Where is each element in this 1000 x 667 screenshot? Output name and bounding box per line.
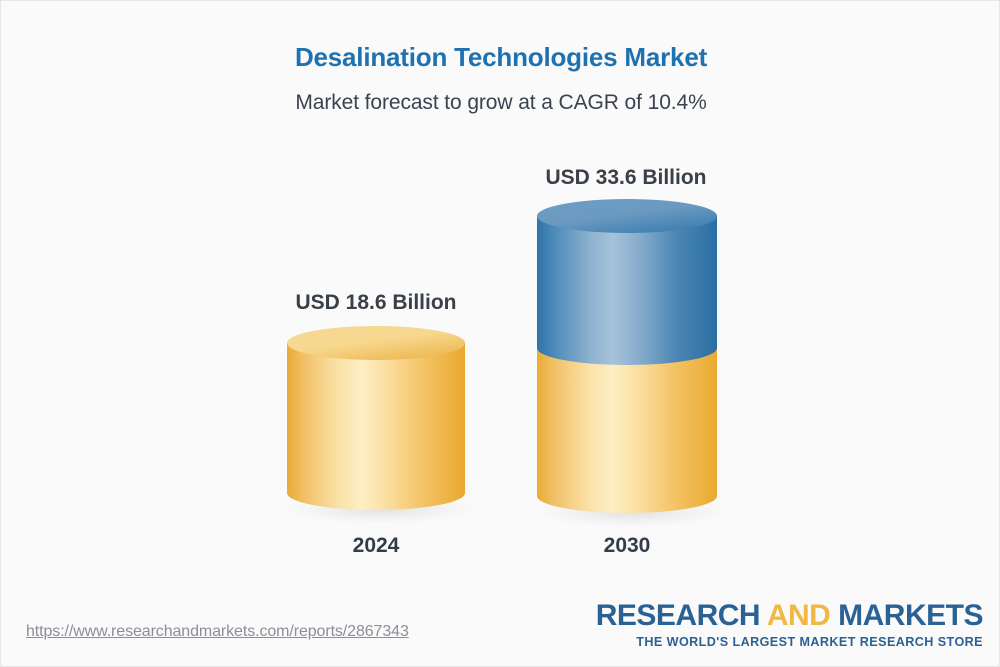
cylinder-2030 (527, 198, 727, 528)
brand-tagline: THE WORLD'S LARGEST MARKET RESEARCH STOR… (596, 636, 983, 649)
plot-area: USD 18.6 Billion (1, 1, 1000, 601)
value-label-2030: USD 33.6 Billion (525, 166, 727, 190)
brand-logo: RESEARCH AND MARKETS THE WORLD'S LARGEST… (596, 601, 983, 649)
chart-canvas: Desalination Technologies Market Market … (0, 0, 1000, 667)
source-url[interactable]: https://www.researchandmarkets.com/repor… (26, 623, 409, 641)
category-label-2030: 2030 (552, 534, 702, 558)
brand-word-markets: MARKETS (838, 599, 983, 632)
brand-wordmark: RESEARCH AND MARKETS (596, 601, 983, 631)
brand-word-research: RESEARCH (596, 599, 760, 632)
bar-group-2030: USD 33.6 Billion (1, 1, 1000, 601)
brand-word-and: AND (767, 599, 831, 632)
